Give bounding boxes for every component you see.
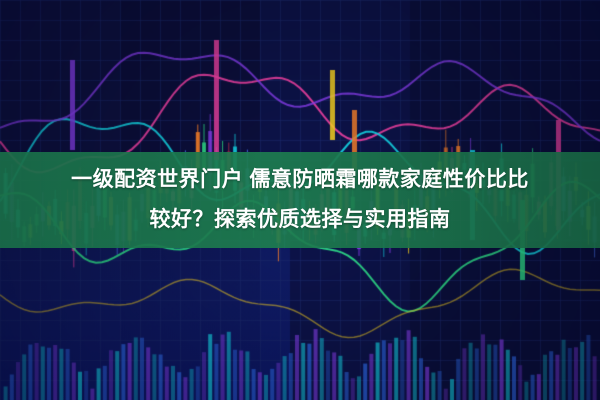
- title-line-1: 一级配资世界门户 儒意防晒霜哪款家庭性价比比: [71, 160, 529, 200]
- title-banner: 一级配资世界门户 儒意防晒霜哪款家庭性价比比 较好？探索优质选择与实用指南: [0, 152, 600, 248]
- title-line-2: 较好？探索优质选择与实用指南: [150, 200, 451, 240]
- image-canvas: 一级配资世界门户 儒意防晒霜哪款家庭性价比比 较好？探索优质选择与实用指南: [0, 0, 600, 400]
